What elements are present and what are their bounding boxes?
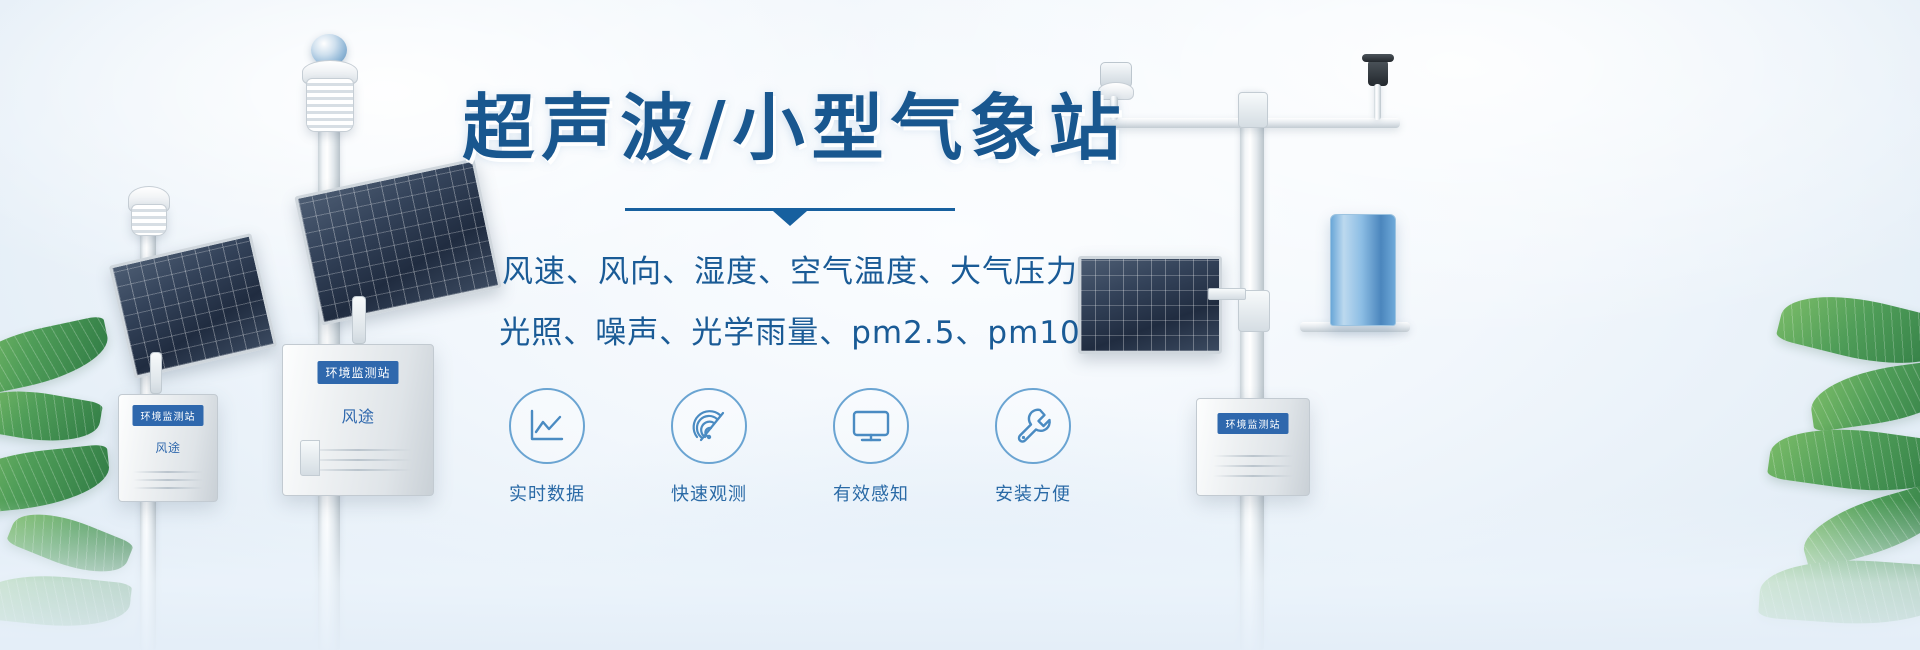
feature-item-easy-install[interactable]: 安装方便 [983,388,1083,506]
feature-list: 实时数据 快速观测 [430,388,1150,506]
mid-cabinet-name-plate: 环境监测站 [317,361,398,384]
right-cabinet-vent [1213,455,1294,457]
mid-station-radiation-shield [306,78,354,132]
mid-cabinet-vent [304,449,412,451]
feature-label: 实时数据 [497,480,597,506]
leaf [1796,480,1920,571]
banner-subtitle-line-1: 风速、风向、湿度、空气温度、大气压力 [430,246,1150,291]
triangle-down-icon [773,211,807,226]
title-divider [625,202,955,220]
right-station-anemometer-vane [1362,54,1394,62]
right-station-cabinet: 环境监测站 [1196,398,1310,496]
left-cabinet-name-plate: 环境监测站 [133,405,204,426]
leaf [1767,418,1920,502]
right-station-mast [1240,92,1264,650]
left-station-radiation-shield [131,204,167,236]
feature-item-fast-observation[interactable]: 快速观测 [659,388,759,506]
right-cabinet-name-plate: 环境监测站 [1218,413,1289,434]
leaf [0,444,112,516]
mid-station-panel-bracket [352,296,366,344]
feature-item-realtime-data[interactable]: 实时数据 [497,388,597,506]
mid-cabinet-vent [304,469,412,471]
feature-label: 快速观测 [659,480,759,506]
right-cabinet-vent [1213,475,1294,477]
leaf [0,381,103,451]
product-banner: 环境监测站 风途 环境监测站 风途 [0,0,1920,650]
banner-title: 超声波/小型气象站 [440,90,1150,168]
right-station-anemometer-head [1368,60,1388,86]
left-station-solar-panel [109,233,277,379]
leaf [0,568,132,633]
feature-icon-circle [671,388,747,464]
feature-icon-circle [995,388,1071,464]
right-cabinet-vent [1213,465,1294,467]
monitor-screen-icon [850,408,892,444]
left-cabinet-vent [133,479,204,481]
left-cabinet-vent [133,487,204,489]
mid-cabinet-vent [304,459,412,461]
feature-label: 安装方便 [983,480,1083,506]
leaf [1807,358,1920,432]
banner-subtitle-line-2: 光照、噪声、光学雨量、pm2.5、pm10 [430,307,1150,352]
line-chart-icon [527,408,567,444]
right-station-arm-collar [1238,92,1268,128]
leaf [6,499,134,587]
mid-cabinet-hinge [300,440,320,476]
left-station-panel-bracket [150,352,162,394]
mid-cabinet-brand: 风途 [341,403,374,427]
radar-observation-icon [689,407,729,445]
left-cabinet-vent [133,471,204,473]
ground-haze [0,500,1920,650]
right-station-panel-bracket [1208,288,1246,300]
feature-icon-circle [509,388,585,464]
feature-item-effective-sensing[interactable]: 有效感知 [821,388,921,506]
left-cabinet-brand: 风途 [155,439,180,456]
right-station-anemometer-stem [1374,84,1381,120]
right-station-rain-gauge [1330,214,1396,326]
wrench-tool-icon [1013,406,1053,446]
feature-label: 有效感知 [821,480,921,506]
leaf [0,315,114,399]
feature-icon-circle [833,388,909,464]
banner-content: 超声波/小型气象站 风速、风向、湿度、空气温度、大气压力 光照、噪声、光学雨量、… [430,90,1150,506]
left-station-cabinet: 环境监测站 风途 [118,394,218,502]
leaf [1758,553,1920,630]
